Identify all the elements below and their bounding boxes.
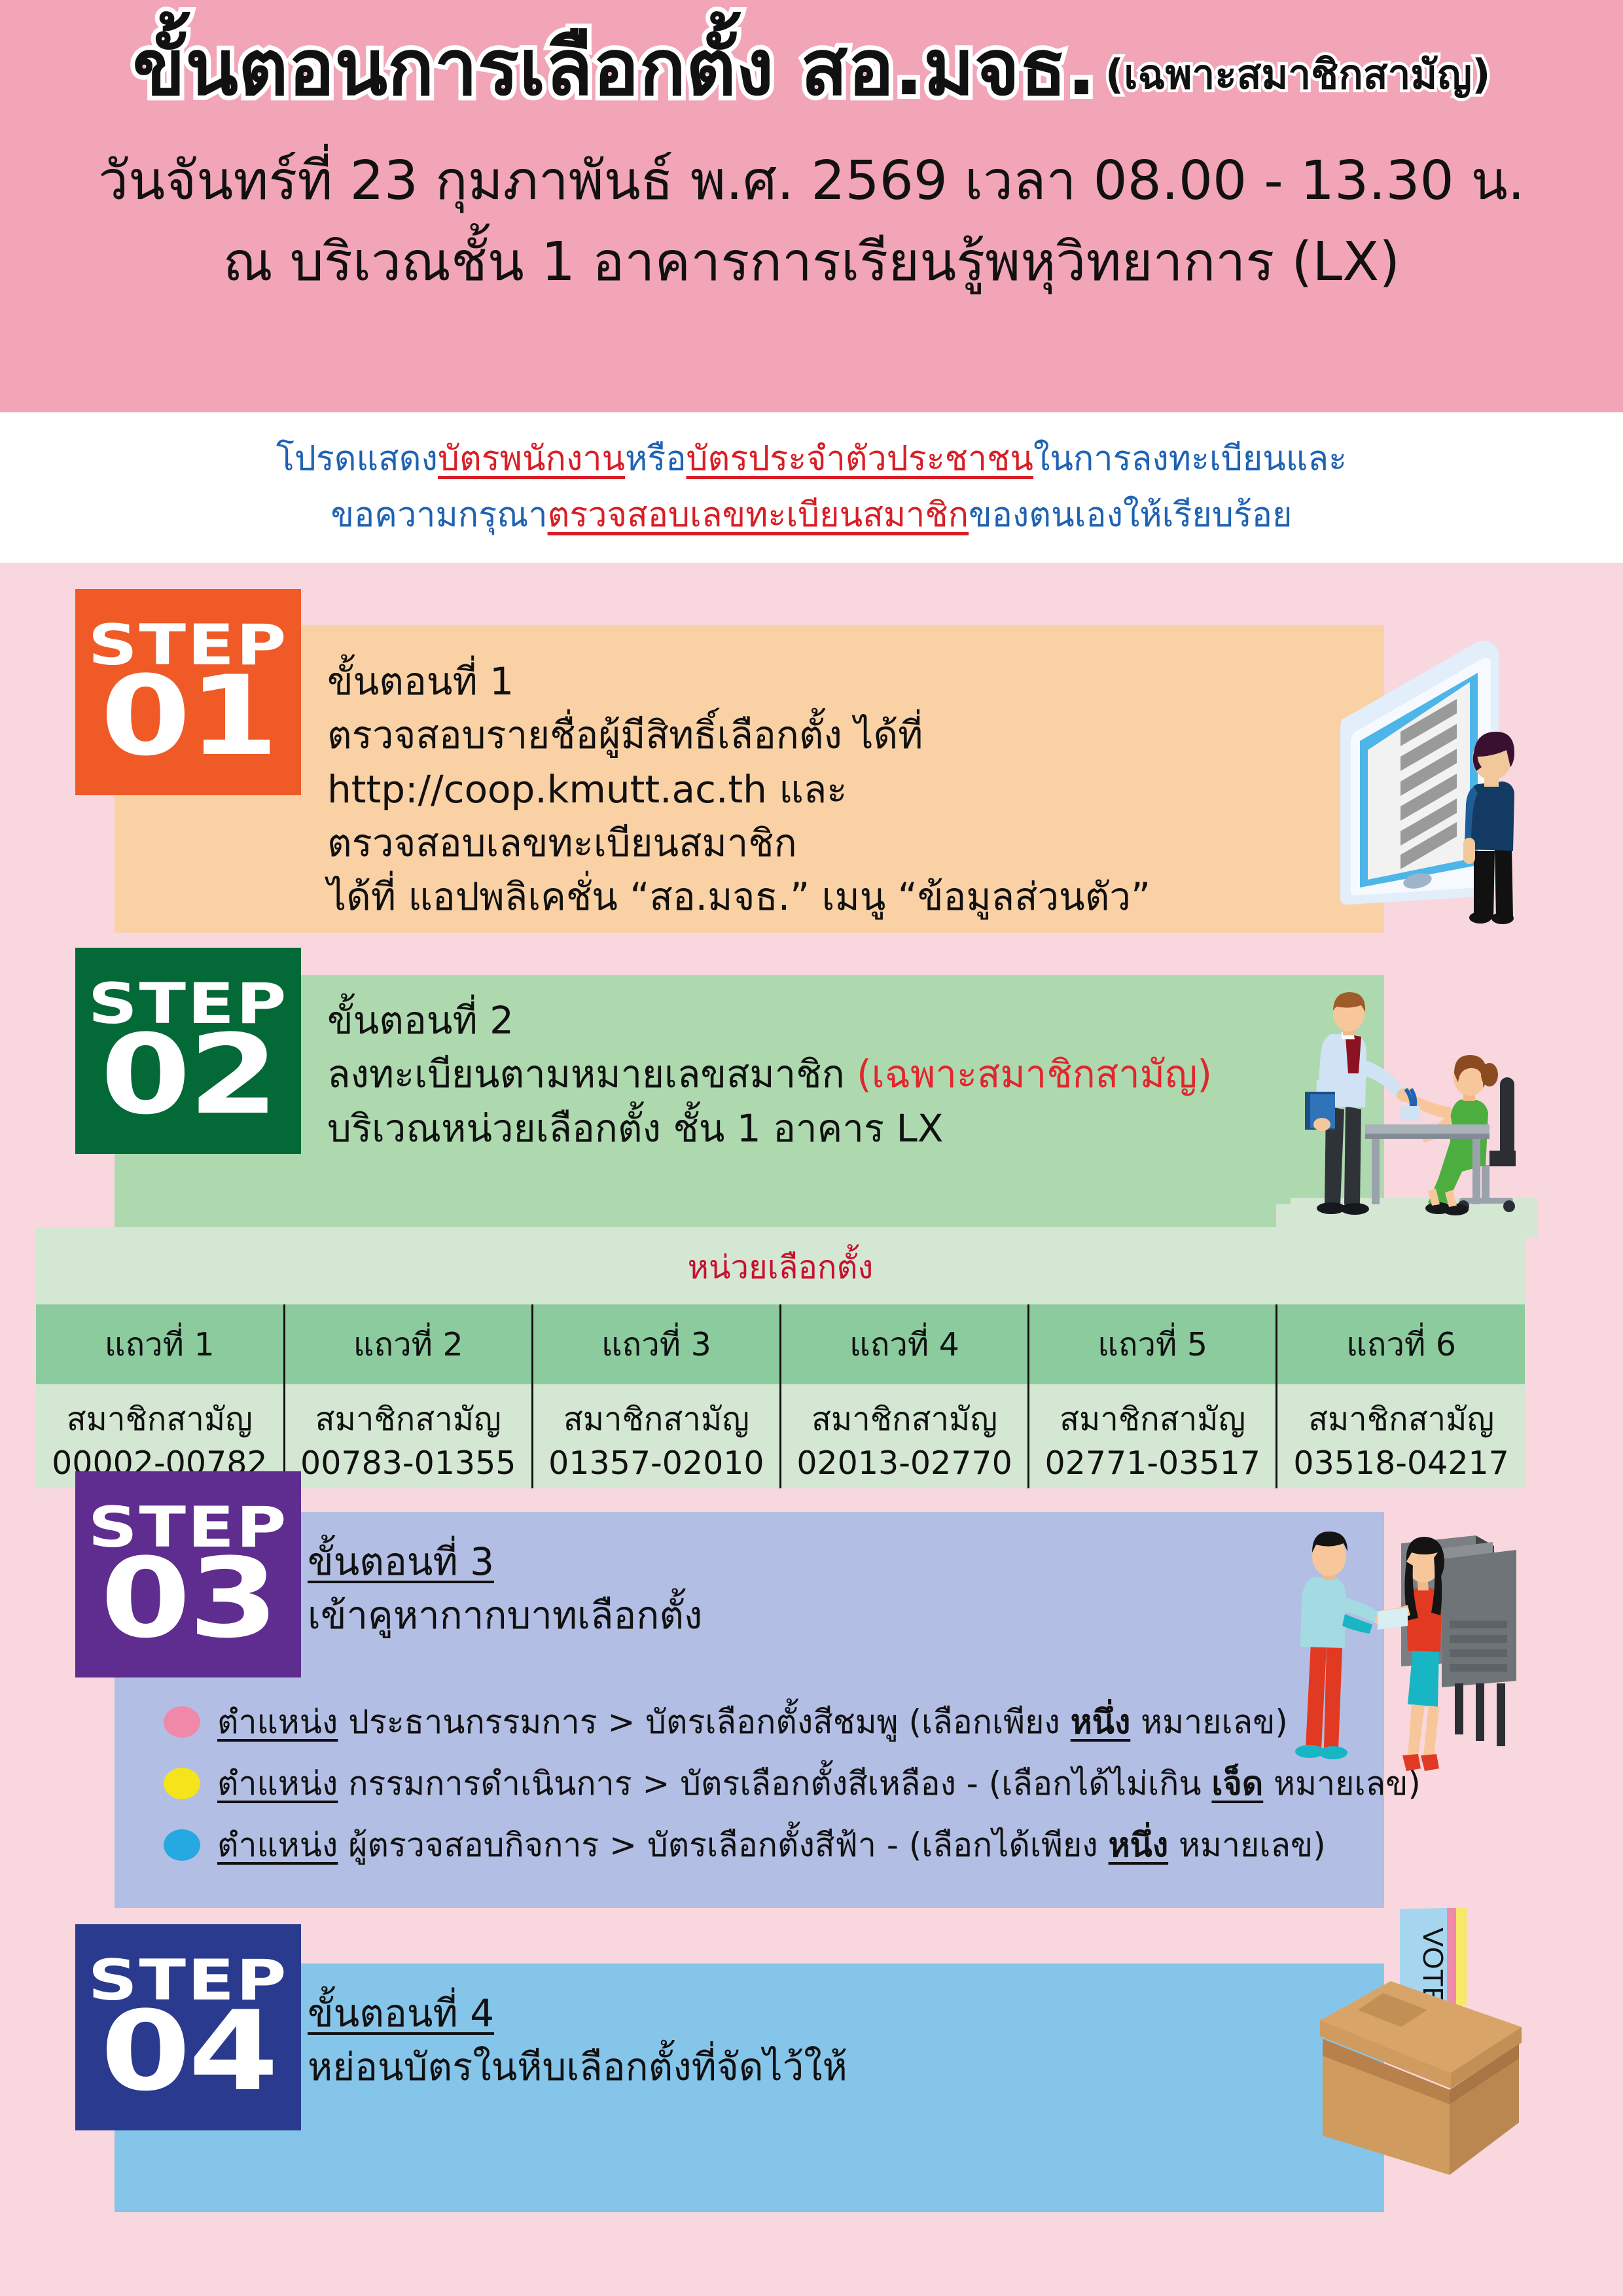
- bullet-3-text: ตำแหน่ง ผู้ตรวจสอบกิจการ > บัตรเลือกตั้ง…: [217, 1820, 1326, 1871]
- bullet-1-tail: หมายเลข): [1130, 1703, 1288, 1741]
- step-02-line-1: ขั้นตอนที่ 2: [327, 994, 1212, 1047]
- bullet-2-text: ตำแหน่ง กรรมการดำเนินการ > บัตรเลือกตั้ง…: [217, 1758, 1421, 1810]
- page-title: ขั้นตอนการเลือกตั้ง สอ.มจธ.: [133, 20, 1096, 117]
- poster-header: ขั้นตอนการเลือกตั้ง สอ.มจธ. (เฉพาะสมาชิก…: [0, 0, 1623, 412]
- step-01-line-3: http://coop.kmutt.ac.th และ: [327, 762, 1150, 816]
- list-item: ตำแหน่ง กรรมการดำเนินการ > บัตรเลือกตั้ง…: [164, 1758, 1421, 1809]
- notice-line-1: โปรดแสดงบัตรพนักงานหรือบัตรประจำตัวประชา…: [276, 431, 1347, 488]
- bullet-2-emph: เจ็ด: [1211, 1765, 1263, 1803]
- notice-line-2: ขอความกรุณาตรวจสอบเลขทะเบียนสมาชิกของตนเ…: [331, 488, 1293, 544]
- polling-units-table-wrapper: หน่วยเลือกตั้ง แถวที่ 1 แถวที่ 2 แถวที่ …: [36, 1227, 1525, 1488]
- table-col-6: แถวที่ 6: [1277, 1304, 1525, 1384]
- bullet-3-emph: หนึ่ง: [1109, 1826, 1169, 1864]
- step-04-badge: STEP 04: [75, 1924, 301, 2130]
- bullet-1-mid: ประธานกรรมการ > บัตรเลือกตั้งสีชมพู (เลื…: [338, 1703, 1070, 1741]
- table-header-row: แถวที่ 1 แถวที่ 2 แถวที่ 3 แถวที่ 4 แถวท…: [36, 1304, 1525, 1384]
- blue-bullet-dot: [164, 1829, 200, 1861]
- table-cell-2: สมาชิกสามัญ00783-01355: [284, 1384, 532, 1488]
- member-range-3: 01357-02010: [533, 1444, 779, 1482]
- step-01-line-5: ได้ที่ แอปพลิเคชั่น “สอ.มจธ.” เมนู “ข้อม…: [327, 870, 1150, 924]
- official-male-figure: [1295, 1532, 1396, 1759]
- step-02-line-2a: ลงทะเบียนตามหมายเลขสมาชิก: [327, 1052, 857, 1096]
- notice-1e: ในการลงทะเบียนและ: [1033, 439, 1347, 478]
- yellow-bullet-dot: [164, 1768, 200, 1799]
- bullet-1-emph: หนึ่ง: [1071, 1703, 1131, 1741]
- step-04-badge-number: 04: [100, 2007, 276, 2097]
- list-item: ตำแหน่ง ประธานกรรมการ > บัตรเลือกตั้งสีช…: [164, 1696, 1421, 1748]
- step-01-line-4: ตรวจสอบเลขทะเบียนสมาชิก: [327, 816, 1150, 870]
- table-col-4: แถวที่ 4: [780, 1304, 1028, 1384]
- list-item: ตำแหน่ง ผู้ตรวจสอบกิจการ > บัตรเลือกตั้ง…: [164, 1820, 1421, 1871]
- ballot-box-illustration: VOTE: [1266, 1908, 1607, 2183]
- step-01-badge: STEP 01: [75, 589, 301, 795]
- step-03-badge: STEP 03: [75, 1471, 301, 1677]
- step-04-text: ขั้นตอนที่ 4 หย่อนบัตรในหีบเลือกตั้งที่จ…: [308, 1986, 847, 2094]
- ballot-box-icon: [1320, 1981, 1522, 2175]
- member-range-2: 00783-01355: [285, 1444, 531, 1482]
- table-cell-4: สมาชิกสามัญ02013-02770: [780, 1384, 1028, 1488]
- registration-desk-illustration: [1276, 975, 1610, 1237]
- bullet-2-mid: กรรมการดำเนินการ > บัตรเลือกตั้งสีเหลือง…: [338, 1765, 1211, 1803]
- step-02-badge: STEP 02: [75, 948, 301, 1154]
- step-03-text: ขั้นตอนที่ 3 เข้าคูหากากบาทเลือกตั้ง: [308, 1535, 702, 1643]
- step-01-line-1: ขั้นตอนที่ 1: [327, 655, 1150, 708]
- table-cell-3: สมาชิกสามัญ01357-02010: [532, 1384, 780, 1488]
- member-range-6: 03518-04217: [1277, 1444, 1525, 1482]
- bullet-3-tail: หมายเลข): [1168, 1826, 1326, 1864]
- table-col-2: แถวที่ 2: [284, 1304, 532, 1384]
- voting-booth-illustration: [1273, 1512, 1607, 1787]
- notice-2b: ตรวจสอบเลขทะเบียนสมาชิก: [548, 495, 969, 535]
- member-type-6: สมาชิกสามัญ: [1277, 1393, 1525, 1444]
- step-02-badge-number: 02: [100, 1030, 276, 1121]
- table-col-1: แถวที่ 1: [36, 1304, 284, 1384]
- notice-2a: ขอความกรุณา: [331, 495, 548, 535]
- person-viewing-tablet-illustration: [1302, 622, 1610, 936]
- bullet-2-label: ตำแหน่ง: [217, 1765, 338, 1803]
- polling-table-title: หน่วยเลือกตั้ง: [36, 1227, 1525, 1304]
- bullet-1-text: ตำแหน่ง ประธานกรรมการ > บัตรเลือกตั้งสีช…: [217, 1696, 1288, 1748]
- step-02-text: ขั้นตอนที่ 2 ลงทะเบียนตามหมายเลขสมาชิก (…: [327, 994, 1212, 1155]
- step-01-line-2: ตรวจสอบรายชื่อผู้มีสิทธิ์เลือกตั้ง ได้ที…: [327, 708, 1150, 762]
- notice-band: โปรดแสดงบัตรพนักงานหรือบัตรประจำตัวประชา…: [0, 412, 1623, 563]
- bullet-3-mid: ผู้ตรวจสอบกิจการ > บัตรเลือกตั้งสีฟ้า - …: [338, 1826, 1108, 1864]
- step-04-line-1: ขั้นตอนที่ 4: [308, 1986, 847, 2040]
- member-type-5: สมาชิกสามัญ: [1029, 1393, 1275, 1444]
- event-venue-line: ณ บริเวณชั้น 1 อาคารการเรียนรู้พหุวิทยาก…: [223, 224, 1400, 302]
- table-col-3: แถวที่ 3: [532, 1304, 780, 1384]
- notice-1d: บัตรประจำตัวประชาชน: [687, 439, 1033, 478]
- ballot-paper-icon: [1378, 1607, 1408, 1630]
- page-title-qualifier: (เฉพาะสมาชิกสามัญ): [1105, 42, 1491, 116]
- step-04-line-2: หย่อนบัตรในหีบเลือกตั้งที่จัดไว้ให้: [308, 2040, 847, 2094]
- member-range-5: 02771-03517: [1029, 1444, 1275, 1482]
- bullet-1-label: ตำแหน่ง: [217, 1703, 338, 1741]
- bullet-3-label: ตำแหน่ง: [217, 1826, 338, 1864]
- member-range-4: 02013-02770: [781, 1444, 1027, 1482]
- wall-strip: [1276, 995, 1291, 1204]
- notice-2c: ของตนเองให้เรียบร้อย: [969, 495, 1292, 535]
- step-03-line-2: เข้าคูหากากบาทเลือกตั้ง: [308, 1588, 702, 1642]
- standing-member-figure: [1305, 992, 1416, 1215]
- pink-bullet-dot: [164, 1706, 200, 1738]
- step-02-line-3: บริเวณหน่วยเลือกตั้ง ชั้น 1 อาคาร LX: [327, 1102, 1212, 1155]
- member-type-2: สมาชิกสามัญ: [285, 1393, 531, 1444]
- table-cell-5: สมาชิกสามัญ02771-03517: [1029, 1384, 1277, 1488]
- event-date-line: วันจันทร์ที่ 23 กุมภาพันธ์ พ.ศ. 2569 เวล…: [98, 143, 1525, 221]
- notice-1b: บัตรพนักงาน: [438, 439, 625, 478]
- table-cell-6: สมาชิกสามัญ03518-04217: [1277, 1384, 1525, 1488]
- notice-1c: หรือ: [625, 439, 686, 478]
- step-03-line-1: ขั้นตอนที่ 3: [308, 1535, 702, 1588]
- title-row: ขั้นตอนการเลือกตั้ง สอ.มจธ. (เฉพาะสมาชิก…: [133, 20, 1491, 117]
- member-type-4: สมาชิกสามัญ: [781, 1393, 1027, 1444]
- step-03-bullet-list: ตำแหน่ง ประธานกรรมการ > บัตรเลือกตั้งสีช…: [164, 1696, 1421, 1881]
- voter-female-figure: [1382, 1537, 1444, 1771]
- member-type-1: สมาชิกสามัญ: [36, 1393, 283, 1444]
- polling-units-table: แถวที่ 1 แถวที่ 2 แถวที่ 3 แถวที่ 4 แถวท…: [36, 1304, 1525, 1488]
- step-02-line-2-qualifier: (เฉพาะสมาชิกสามัญ): [857, 1052, 1212, 1096]
- step-02-line-2: ลงทะเบียนตามหมายเลขสมาชิก (เฉพาะสมาชิกสา…: [327, 1047, 1212, 1101]
- step-01-text: ขั้นตอนที่ 1 ตรวจสอบรายชื่อผู้มีสิทธิ์เล…: [327, 655, 1150, 924]
- member-type-3: สมาชิกสามัญ: [533, 1393, 779, 1444]
- notice-1a: โปรดแสดง: [276, 439, 438, 478]
- table-col-5: แถวที่ 5: [1029, 1304, 1277, 1384]
- step-01-badge-number: 01: [100, 672, 276, 762]
- step-03-badge-number: 03: [100, 1554, 276, 1644]
